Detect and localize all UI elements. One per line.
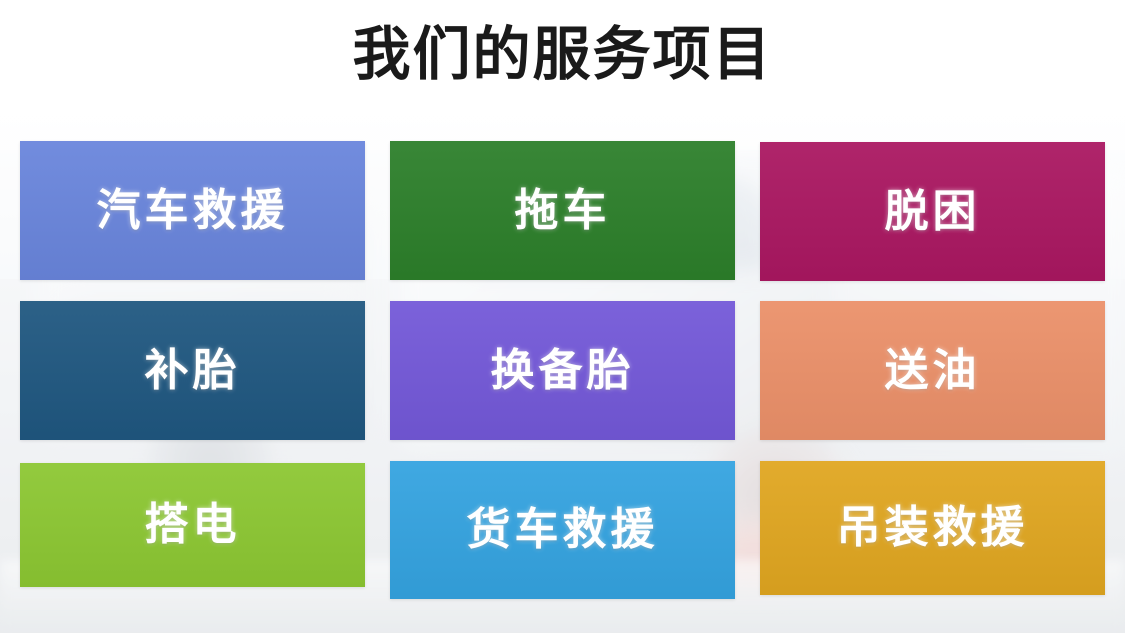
service-tile-label: 搭电 (145, 503, 241, 547)
service-grid: 汽车救援 拖车 脱困 补胎 换备胎 送油 搭电 货车救援 吊装救援 (20, 141, 1105, 599)
service-tile-tow-truck[interactable]: 拖车 (390, 141, 735, 280)
service-tile-extrication[interactable]: 脱困 (760, 142, 1105, 281)
service-tile-label: 货车救援 (467, 508, 659, 552)
service-tile-hoisting-rescue[interactable]: 吊装救援 (760, 461, 1105, 595)
service-poster: 我们的服务项目 汽车救援 拖车 脱困 补胎 换备胎 送油 搭电 货车救援 吊装救… (0, 0, 1125, 633)
service-tile-fuel-delivery[interactable]: 送油 (760, 301, 1105, 440)
service-tile-label: 吊装救援 (837, 506, 1029, 550)
service-tile-truck-rescue[interactable]: 货车救援 (390, 461, 735, 599)
service-tile-label: 送油 (885, 349, 981, 393)
page-title: 我们的服务项目 (0, 22, 1125, 89)
service-tile-label: 脱困 (885, 190, 981, 234)
service-tile-label: 汽车救援 (97, 189, 289, 233)
service-tile-label: 换备胎 (491, 349, 635, 393)
service-tile-spare-tire-change[interactable]: 换备胎 (390, 301, 735, 440)
service-tile-tire-repair[interactable]: 补胎 (20, 301, 365, 440)
service-tile-jump-start[interactable]: 搭电 (20, 463, 365, 587)
service-tile-car-rescue[interactable]: 汽车救援 (20, 141, 365, 280)
service-tile-label: 补胎 (145, 349, 241, 393)
service-tile-label: 拖车 (515, 189, 611, 233)
